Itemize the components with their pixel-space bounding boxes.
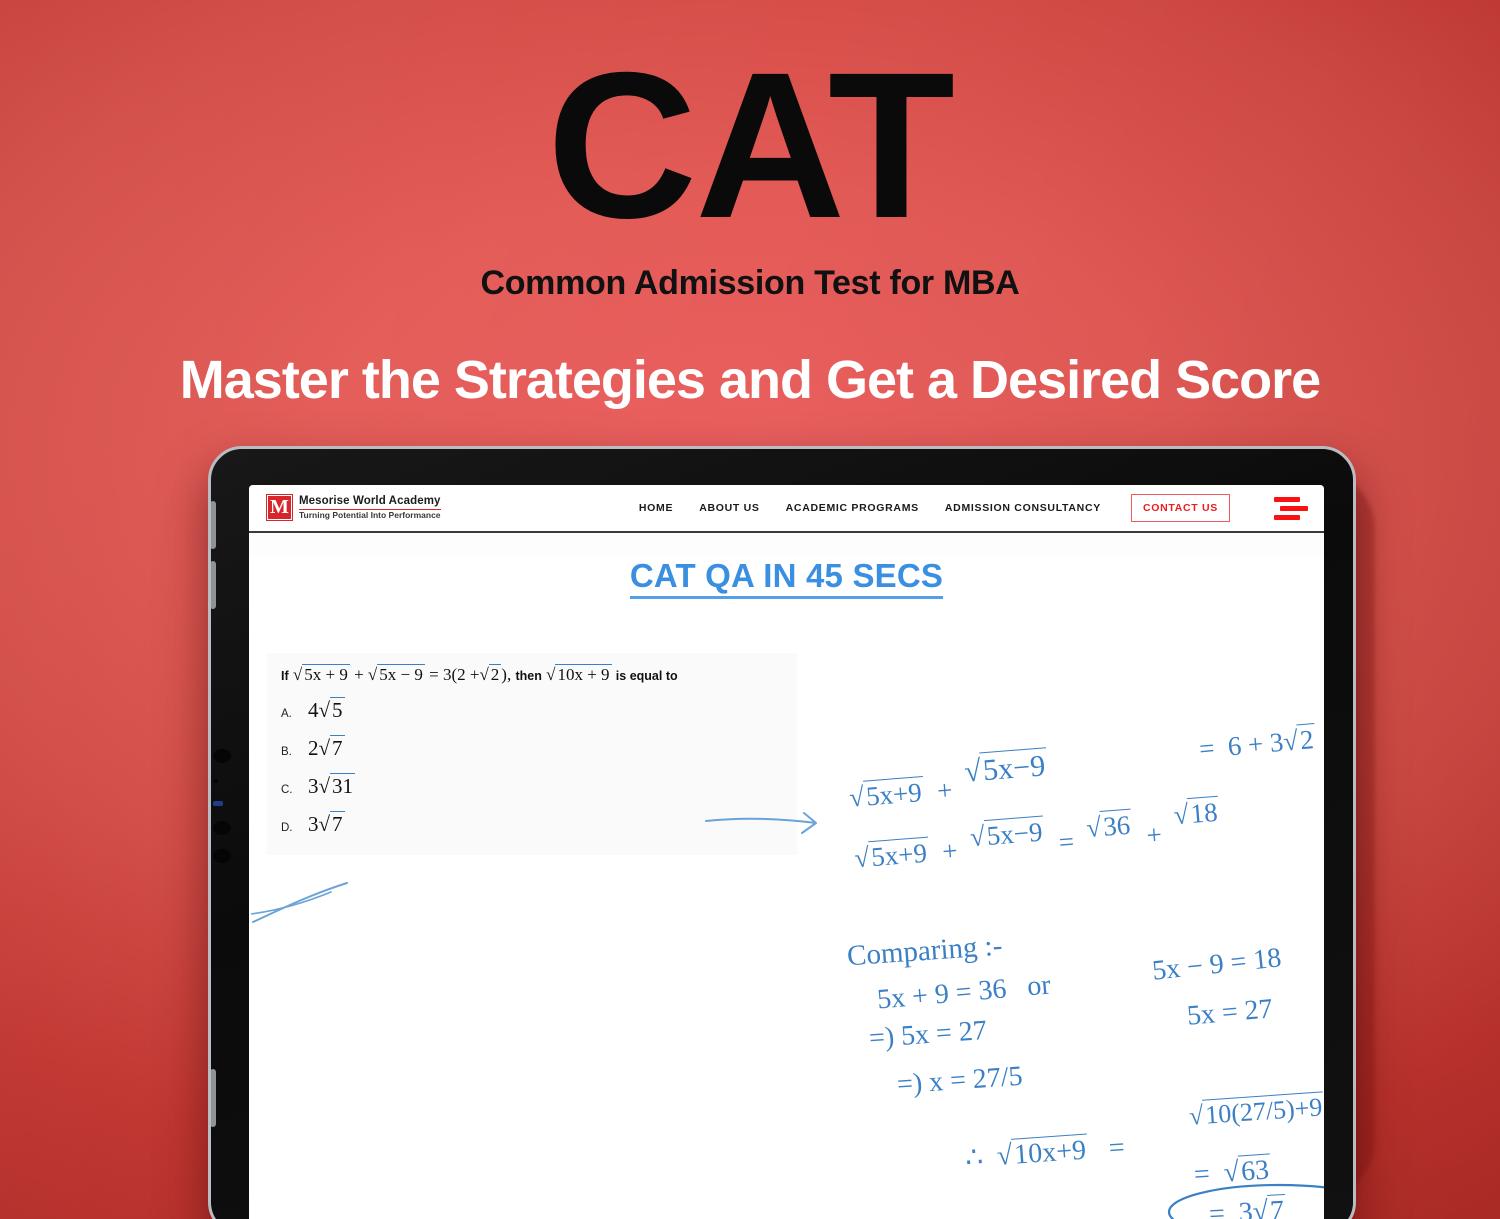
hw-line-4-right: 5x = 27	[1186, 993, 1274, 1032]
page-content: CAT QA IN 45 SECS If √5x + 9 + √5x − 9 =…	[249, 557, 1324, 1219]
radical-5x-minus-9: √5x − 9	[368, 665, 425, 685]
hw-line-3-right: 5x − 9 = 18	[1151, 942, 1283, 987]
option-c[interactable]: C. 3√31	[281, 774, 787, 799]
tablet-screen: M Mesorise World Academy Turning Potenti…	[249, 485, 1324, 1219]
question-rhs-tail: ),	[501, 665, 511, 684]
power-button[interactable]	[210, 1069, 216, 1127]
contact-us-button[interactable]: CONTACT US	[1131, 494, 1230, 522]
volume-up-button[interactable]	[210, 501, 216, 549]
option-c-value: 3√31	[308, 774, 355, 799]
page-title: CAT	[0, 42, 1500, 250]
question-rhs: = 3(2 +	[429, 665, 479, 684]
question-prompt-prefix: If	[281, 669, 289, 683]
connector-port	[213, 801, 223, 806]
speaker-port-3	[213, 849, 231, 863]
question-prompt-suffix: is equal to	[616, 669, 678, 683]
hw-line-4: =) 5x = 27	[868, 1015, 988, 1055]
option-d-letter: D.	[281, 822, 295, 834]
radical-2: √2	[479, 665, 501, 685]
option-b[interactable]: B. 2√7	[281, 736, 787, 761]
radicand-4: 10x + 9	[555, 664, 611, 684]
volume-down-button[interactable]	[210, 561, 216, 609]
hero-headline: Master the Strategies and Get a Desired …	[0, 349, 1500, 411]
strike-through-option-d-annotation	[251, 881, 367, 925]
hw-line-6: ∴ √10x+9 =	[964, 1129, 1140, 1175]
answer-circle-annotation	[1164, 1181, 1324, 1219]
logo-mark-icon: M	[267, 495, 292, 520]
radicand-3: 2	[489, 664, 502, 684]
radical-10x-plus-9: √10x + 9	[546, 665, 611, 685]
hw-line-6-rhs: √10(27/5)+9	[1188, 1092, 1324, 1131]
radicand-2: 5x − 9	[377, 664, 425, 684]
hero-section: CAT Common Admission Test for MBA Master…	[0, 0, 1500, 411]
logo-name: Mesorise World Academy	[299, 495, 441, 510]
speaker-port-2	[213, 821, 231, 835]
nav-item-about-us[interactable]: ABOUT US	[699, 502, 759, 514]
question-prompt: If √5x + 9 + √5x − 9 = 3(2 +√2), then √1…	[281, 665, 787, 685]
hw-line-comparing: Comparing :-	[846, 930, 1003, 974]
site-header: M Mesorise World Academy Turning Potenti…	[249, 485, 1324, 533]
logo-tagline: Turning Potential Into Performance	[299, 511, 441, 521]
option-d-value: 3√7	[308, 812, 345, 837]
pointer-arrow-annotation	[704, 807, 844, 847]
nav-item-home[interactable]: HOME	[639, 502, 673, 514]
tablet-device-mockup: M Mesorise World Academy Turning Potenti…	[208, 446, 1356, 1219]
hw-line-2: √5x+9 + √5x−9 = √36 + √18	[853, 815, 1222, 875]
main-navigation: HOME ABOUT US ACADEMIC PROGRAMS ADMISSIO…	[639, 494, 1316, 522]
hw-line-1-rhs: = 6 + 3√2	[1198, 724, 1317, 765]
lesson-title-text: CAT QA IN 45 SECS	[630, 557, 943, 599]
nav-item-academic-programs[interactable]: ACADEMIC PROGRAMS	[786, 502, 919, 514]
hw-final-answer: = 3√7	[1208, 1195, 1287, 1219]
option-a-value: 4√5	[308, 698, 345, 723]
hero-subtitle: Common Admission Test for MBA	[0, 264, 1500, 303]
radical-5x-plus-9: √5x + 9	[293, 665, 350, 685]
logo-text: Mesorise World Academy Turning Potential…	[299, 495, 441, 521]
hw-line-5: =) x = 27/5	[896, 1061, 1024, 1102]
radicand-1: 5x + 9	[302, 664, 350, 684]
option-c-letter: C.	[281, 784, 295, 796]
site-logo[interactable]: M Mesorise World Academy Turning Potenti…	[267, 495, 441, 521]
option-a[interactable]: A. 4√5	[281, 698, 787, 723]
hw-line-3: 5x + 9 = 36 or	[876, 969, 1052, 1016]
question-prompt-mid-word: then	[515, 669, 541, 683]
option-b-letter: B.	[281, 746, 295, 758]
lesson-title: CAT QA IN 45 SECS	[249, 557, 1324, 595]
speaker-port-1	[213, 749, 231, 763]
nav-item-admission-consultancy[interactable]: ADMISSION CONSULTANCY	[945, 502, 1101, 514]
hamburger-icon[interactable]	[1274, 497, 1308, 520]
hw-line-1: √5x+9 + √5x−9	[848, 764, 1050, 815]
option-a-letter: A.	[281, 708, 295, 720]
hw-line-7: = √63	[1193, 1154, 1272, 1191]
option-b-value: 2√7	[308, 736, 345, 761]
microphone-port	[213, 779, 218, 783]
